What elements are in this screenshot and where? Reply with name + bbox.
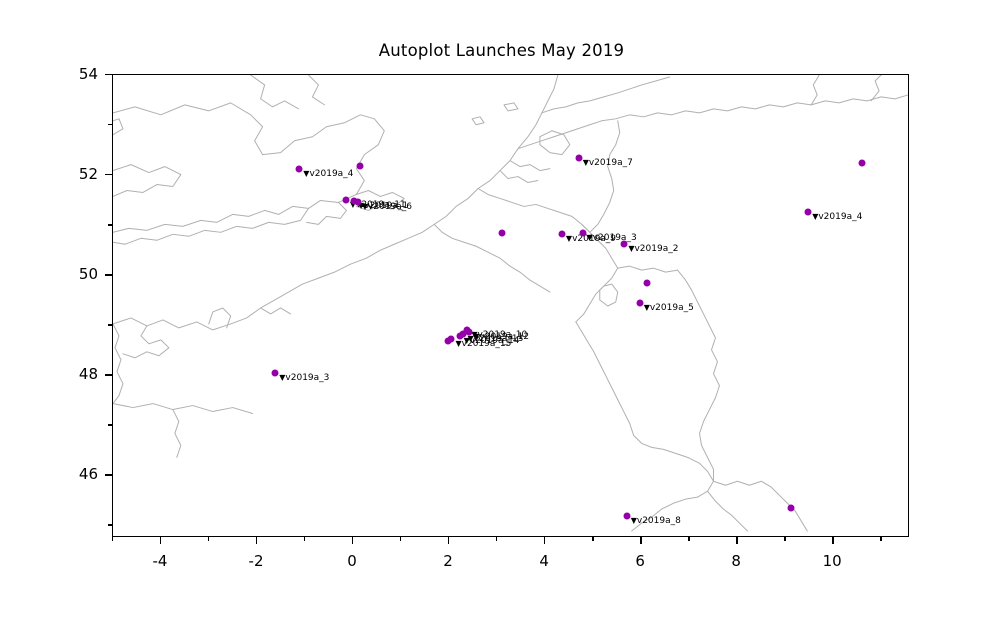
y-axis-tick	[108, 424, 112, 425]
x-axis-tick	[544, 537, 545, 544]
scatter-point-label: ▼v2019a_3	[279, 373, 329, 383]
scatter-marker	[498, 229, 505, 236]
x-axis-tick	[784, 537, 785, 541]
scatter-marker	[623, 513, 630, 520]
x-axis-tick-label: 10	[823, 552, 842, 570]
y-axis-tick-label: 50	[79, 265, 98, 283]
x-axis-tick	[352, 537, 353, 544]
x-axis-tick	[736, 537, 737, 544]
scatter-marker	[787, 504, 794, 511]
x-axis-tick-label: -4	[153, 552, 168, 570]
scatter-marker	[579, 229, 586, 236]
scatter-marker	[354, 199, 361, 206]
scatter-point-label: ▼v2019a_7	[583, 158, 633, 168]
x-axis-tick	[592, 537, 593, 541]
scatter-marker	[272, 369, 279, 376]
scatter-marker	[805, 209, 812, 216]
x-axis-tick	[112, 537, 113, 541]
scatter-marker	[858, 159, 865, 166]
x-axis-tick	[640, 537, 641, 544]
x-axis-tick	[496, 537, 497, 541]
y-axis-tick	[105, 474, 112, 475]
x-axis-tick	[256, 537, 257, 544]
x-axis-tick-label: -2	[249, 552, 264, 570]
x-axis-tick	[880, 537, 881, 541]
y-axis-tick	[105, 174, 112, 175]
map-plot-area[interactable]: ▼v2019a_4▼v2019a_11▼v2019a_1▼v2019a_6▼v2…	[112, 74, 909, 537]
scatter-point-label: ▼v2019a_3	[587, 233, 637, 243]
x-axis-tick-label: 2	[443, 552, 453, 570]
scatter-marker	[357, 163, 364, 170]
page-title: Autoplot Launches May 2019	[0, 41, 1003, 60]
x-axis-tick-label: 8	[731, 552, 741, 570]
y-axis-tick-label: 54	[79, 65, 98, 83]
x-axis-tick-label: 0	[347, 552, 357, 570]
scatter-marker	[445, 338, 452, 345]
x-axis-tick-label: 4	[539, 552, 549, 570]
x-axis-tick-label: 6	[635, 552, 645, 570]
scatter-point-label: ▼v2019a_4	[303, 169, 353, 179]
x-axis-tick	[832, 537, 833, 544]
scatter-marker	[296, 166, 303, 173]
y-axis-tick	[105, 374, 112, 375]
matplotlib-figure: Autoplot Launches May 2019	[0, 0, 1003, 633]
scatter-marker	[636, 299, 643, 306]
y-axis-tick-label: 52	[79, 165, 98, 183]
scatter-marker	[342, 197, 349, 204]
scatter-point-label: ▼v2019a_15	[455, 339, 511, 349]
y-axis-tick	[105, 274, 112, 275]
y-axis-tick-label: 46	[79, 465, 98, 483]
x-axis-tick	[304, 537, 305, 541]
x-axis-tick	[160, 537, 161, 544]
x-axis-tick	[208, 537, 209, 541]
y-axis-tick	[108, 524, 112, 525]
y-axis-tick	[108, 324, 112, 325]
scatter-point-label: ▼v2019a_4	[812, 212, 862, 222]
scatter-marker	[643, 279, 650, 286]
y-axis-tick	[105, 74, 112, 75]
scatter-point-label: ▼v2019a_8	[631, 516, 681, 526]
scatter-marker	[621, 241, 628, 248]
x-axis-tick	[400, 537, 401, 541]
scatter-marker	[575, 154, 582, 161]
scatter-marker	[558, 231, 565, 238]
y-axis-tick-label: 48	[79, 365, 98, 383]
y-axis-tick	[108, 124, 112, 125]
scatter-point-label: ▼v2019a_5	[644, 303, 694, 313]
scatter-points-layer: ▼v2019a_4▼v2019a_11▼v2019a_1▼v2019a_6▼v2…	[113, 75, 908, 536]
x-axis-tick	[448, 537, 449, 544]
scatter-point-label: ▼v2019a_6	[362, 202, 412, 212]
y-axis-tick	[108, 224, 112, 225]
x-axis-tick	[688, 537, 689, 541]
scatter-point-label: ▼v2019a_2	[628, 244, 678, 254]
